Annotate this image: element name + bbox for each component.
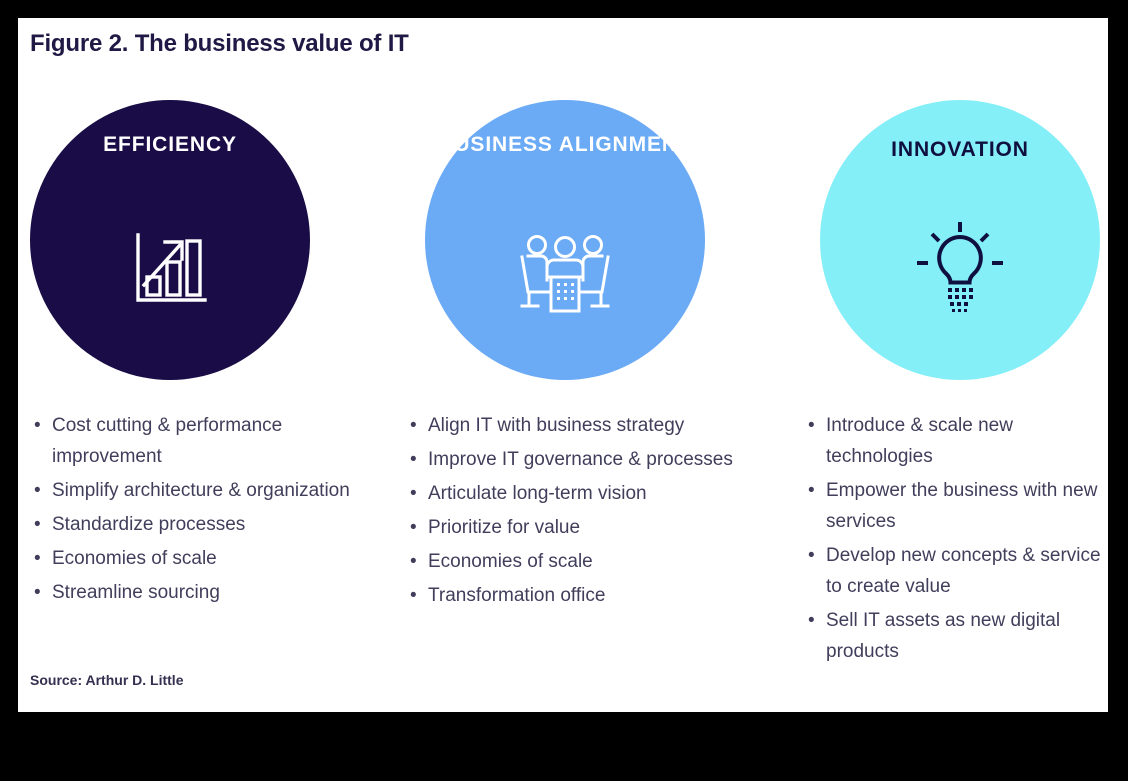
list-item: • Improve IT governance & processes bbox=[406, 444, 786, 475]
bullet-marker: • bbox=[406, 580, 428, 611]
bullet-marker: • bbox=[406, 444, 428, 475]
bullet-label: Economies of scale bbox=[52, 543, 390, 574]
list-item: • Empower the business with new services bbox=[804, 475, 1104, 537]
bullet-marker: • bbox=[406, 512, 428, 543]
source-attribution: Source: Arthur D. Little bbox=[30, 672, 184, 688]
bullet-label: Improve IT governance & processes bbox=[428, 444, 786, 475]
list-item: • Cost cutting & performance improvement bbox=[30, 410, 390, 472]
pillar-label-business-alignment: BUSINESS ALIGNMENT bbox=[438, 133, 691, 157]
bullet-label: Prioritize for value bbox=[428, 512, 786, 543]
list-item: • Articulate long-term vision bbox=[406, 478, 786, 509]
bullet-label: Economies of scale bbox=[428, 546, 786, 577]
list-item: • Align IT with business strategy bbox=[406, 410, 786, 441]
list-item: • Introduce & scale new technologies bbox=[804, 410, 1104, 472]
bullet-marker: • bbox=[30, 577, 52, 608]
bullet-label: Standardize processes bbox=[52, 509, 390, 540]
pillar-label-efficiency: EFFICIENCY bbox=[103, 133, 237, 157]
bullet-label: Articulate long-term vision bbox=[428, 478, 786, 509]
figure-canvas: Figure 2. The business value of IT EFFIC… bbox=[18, 18, 1108, 712]
bullet-marker: • bbox=[30, 509, 52, 540]
bullet-label: Introduce & scale new technologies bbox=[826, 410, 1104, 472]
list-item: • Economies of scale bbox=[30, 543, 390, 574]
bullet-label: Sell IT assets as new digital products bbox=[826, 605, 1104, 667]
bullet-marker: • bbox=[804, 475, 826, 506]
bullet-label: Cost cutting & performance improvement bbox=[52, 410, 390, 472]
bullet-label: Streamline sourcing bbox=[52, 577, 390, 608]
bullet-label: Empower the business with new services bbox=[826, 475, 1104, 537]
bullet-marker: • bbox=[406, 478, 428, 509]
list-item: • Transformation office bbox=[406, 580, 786, 611]
bullet-column-efficiency: • Cost cutting & performance improvement… bbox=[30, 410, 390, 611]
pillar-circle-innovation[interactable]: INNOVATION bbox=[820, 100, 1100, 380]
bar-chart-growth-icon bbox=[120, 218, 220, 318]
pillar-circle-business-alignment[interactable]: BUSINESS ALIGNMENT bbox=[425, 100, 705, 380]
list-item: • Prioritize for value bbox=[406, 512, 786, 543]
list-item: • Simplify architecture & organization bbox=[30, 475, 390, 506]
pillar-circle-efficiency[interactable]: EFFICIENCY bbox=[30, 100, 310, 380]
bullet-label: Simplify architecture & organization bbox=[52, 475, 390, 506]
bullet-label: Develop new concepts & service to create… bbox=[826, 540, 1104, 602]
list-item: • Sell IT assets as new digital products bbox=[804, 605, 1104, 667]
bullet-column-business-alignment: • Align IT with business strategy • Impr… bbox=[406, 410, 786, 614]
list-item: • Develop new concepts & service to crea… bbox=[804, 540, 1104, 602]
bullet-column-innovation: • Introduce & scale new technologies • E… bbox=[804, 410, 1104, 670]
pillar-bullet-columns: • Cost cutting & performance improvement… bbox=[18, 410, 1108, 660]
list-item: • Standardize processes bbox=[30, 509, 390, 540]
bullet-marker: • bbox=[804, 605, 826, 636]
list-item: • Streamline sourcing bbox=[30, 577, 390, 608]
figure-title: Figure 2. The business value of IT bbox=[30, 30, 409, 58]
bullet-marker: • bbox=[30, 475, 52, 506]
list-item: • Economies of scale bbox=[406, 546, 786, 577]
bullet-marker: • bbox=[804, 410, 826, 441]
pillar-label-innovation: INNOVATION bbox=[891, 138, 1029, 162]
bullet-marker: • bbox=[30, 543, 52, 574]
meeting-team-icon bbox=[515, 224, 615, 324]
bullet-marker: • bbox=[406, 410, 428, 441]
bullet-label: Align IT with business strategy bbox=[428, 410, 786, 441]
bullet-marker: • bbox=[804, 540, 826, 571]
bullet-marker: • bbox=[406, 546, 428, 577]
bullet-marker: • bbox=[30, 410, 52, 441]
bullet-label: Transformation office bbox=[428, 580, 786, 611]
pillar-circle-row: EFFICIENCY BUSINESS ALIGN bbox=[18, 100, 1108, 390]
lightbulb-idea-icon bbox=[910, 216, 1010, 316]
